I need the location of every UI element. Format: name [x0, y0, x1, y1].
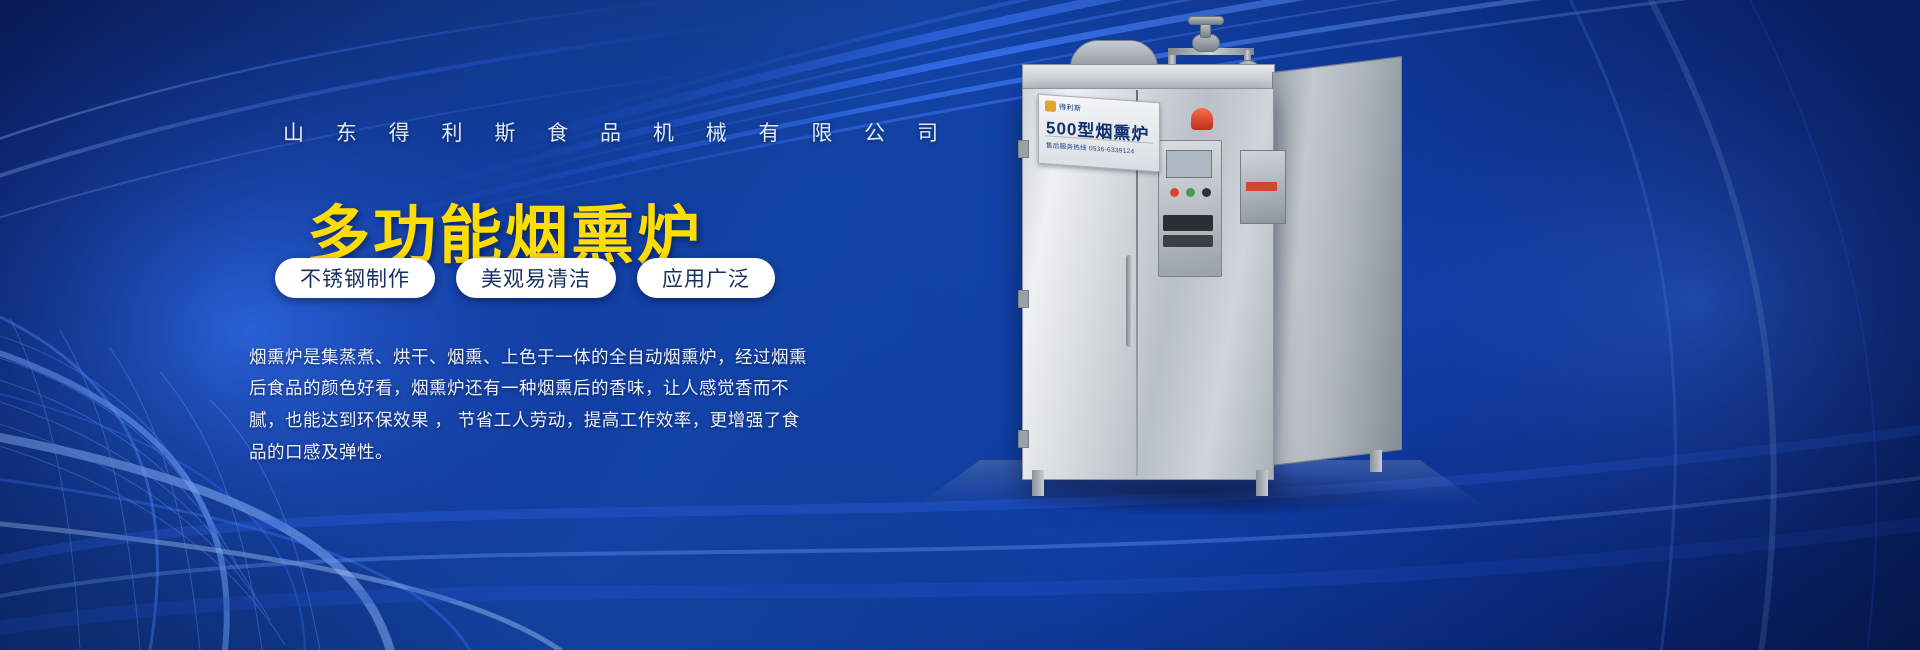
oven-leg — [1032, 470, 1044, 496]
brand-logo: 得利斯 — [1045, 100, 1082, 114]
door-handle[interactable] — [1126, 255, 1133, 347]
panel-label-strip — [1163, 215, 1213, 231]
door-hinge — [1018, 140, 1029, 158]
feature-pill-label: 不锈钢制作 — [300, 263, 410, 293]
valve-icon — [1200, 24, 1211, 38]
door-hinge — [1018, 290, 1029, 308]
company-name: 山 东 得 利 斯 食 品 机 械 有 限 公 司 — [283, 117, 951, 147]
feature-pill-easy-clean[interactable]: 美观易清洁 — [456, 258, 616, 298]
brand-mark-icon — [1045, 100, 1056, 112]
panel-button-black[interactable] — [1202, 188, 1211, 197]
product-description: 烟熏炉是集蒸煮、烘干、烟熏、上色于一体的全自动烟熏炉，经过烟熏后食品的颜色好看，… — [249, 342, 817, 469]
feature-pill-label: 美观易清洁 — [481, 263, 591, 293]
panel-button-red[interactable] — [1170, 188, 1179, 197]
side-box-indicator — [1246, 182, 1277, 191]
feature-pill-stainless[interactable]: 不锈钢制作 — [275, 258, 435, 298]
machine-placard: 得利斯 500型烟熏炉 售后服务热线 0536-6339124 — [1038, 94, 1160, 173]
oven-leg — [1256, 470, 1268, 496]
panel-button-green[interactable] — [1186, 188, 1195, 197]
feature-pill-group: 不锈钢制作 美观易清洁 应用广泛 — [275, 258, 775, 298]
door-hinge — [1018, 430, 1029, 448]
brand-name: 得利斯 — [1059, 102, 1082, 114]
valve-wheel-icon — [1188, 16, 1224, 25]
promo-banner: 山 东 得 利 斯 食 品 机 械 有 限 公 司 多功能烟熏炉 不锈钢制作 美… — [0, 0, 1920, 650]
oven-leg — [1370, 450, 1382, 472]
feature-pill-label: 应用广泛 — [662, 263, 750, 293]
product-photo: 得利斯 500型烟熏炉 售后服务热线 0536-6339124 — [900, 30, 1460, 540]
alarm-beacon-icon — [1191, 108, 1213, 130]
feature-pill-wide-use[interactable]: 应用广泛 — [637, 258, 775, 298]
banner-text-block: 山 东 得 利 斯 食 品 机 械 有 限 公 司 多功能烟熏炉 不锈钢制作 美… — [0, 0, 860, 650]
control-panel-display — [1166, 150, 1212, 178]
oven-side-wall — [1272, 56, 1402, 466]
panel-label-strip — [1163, 235, 1213, 247]
